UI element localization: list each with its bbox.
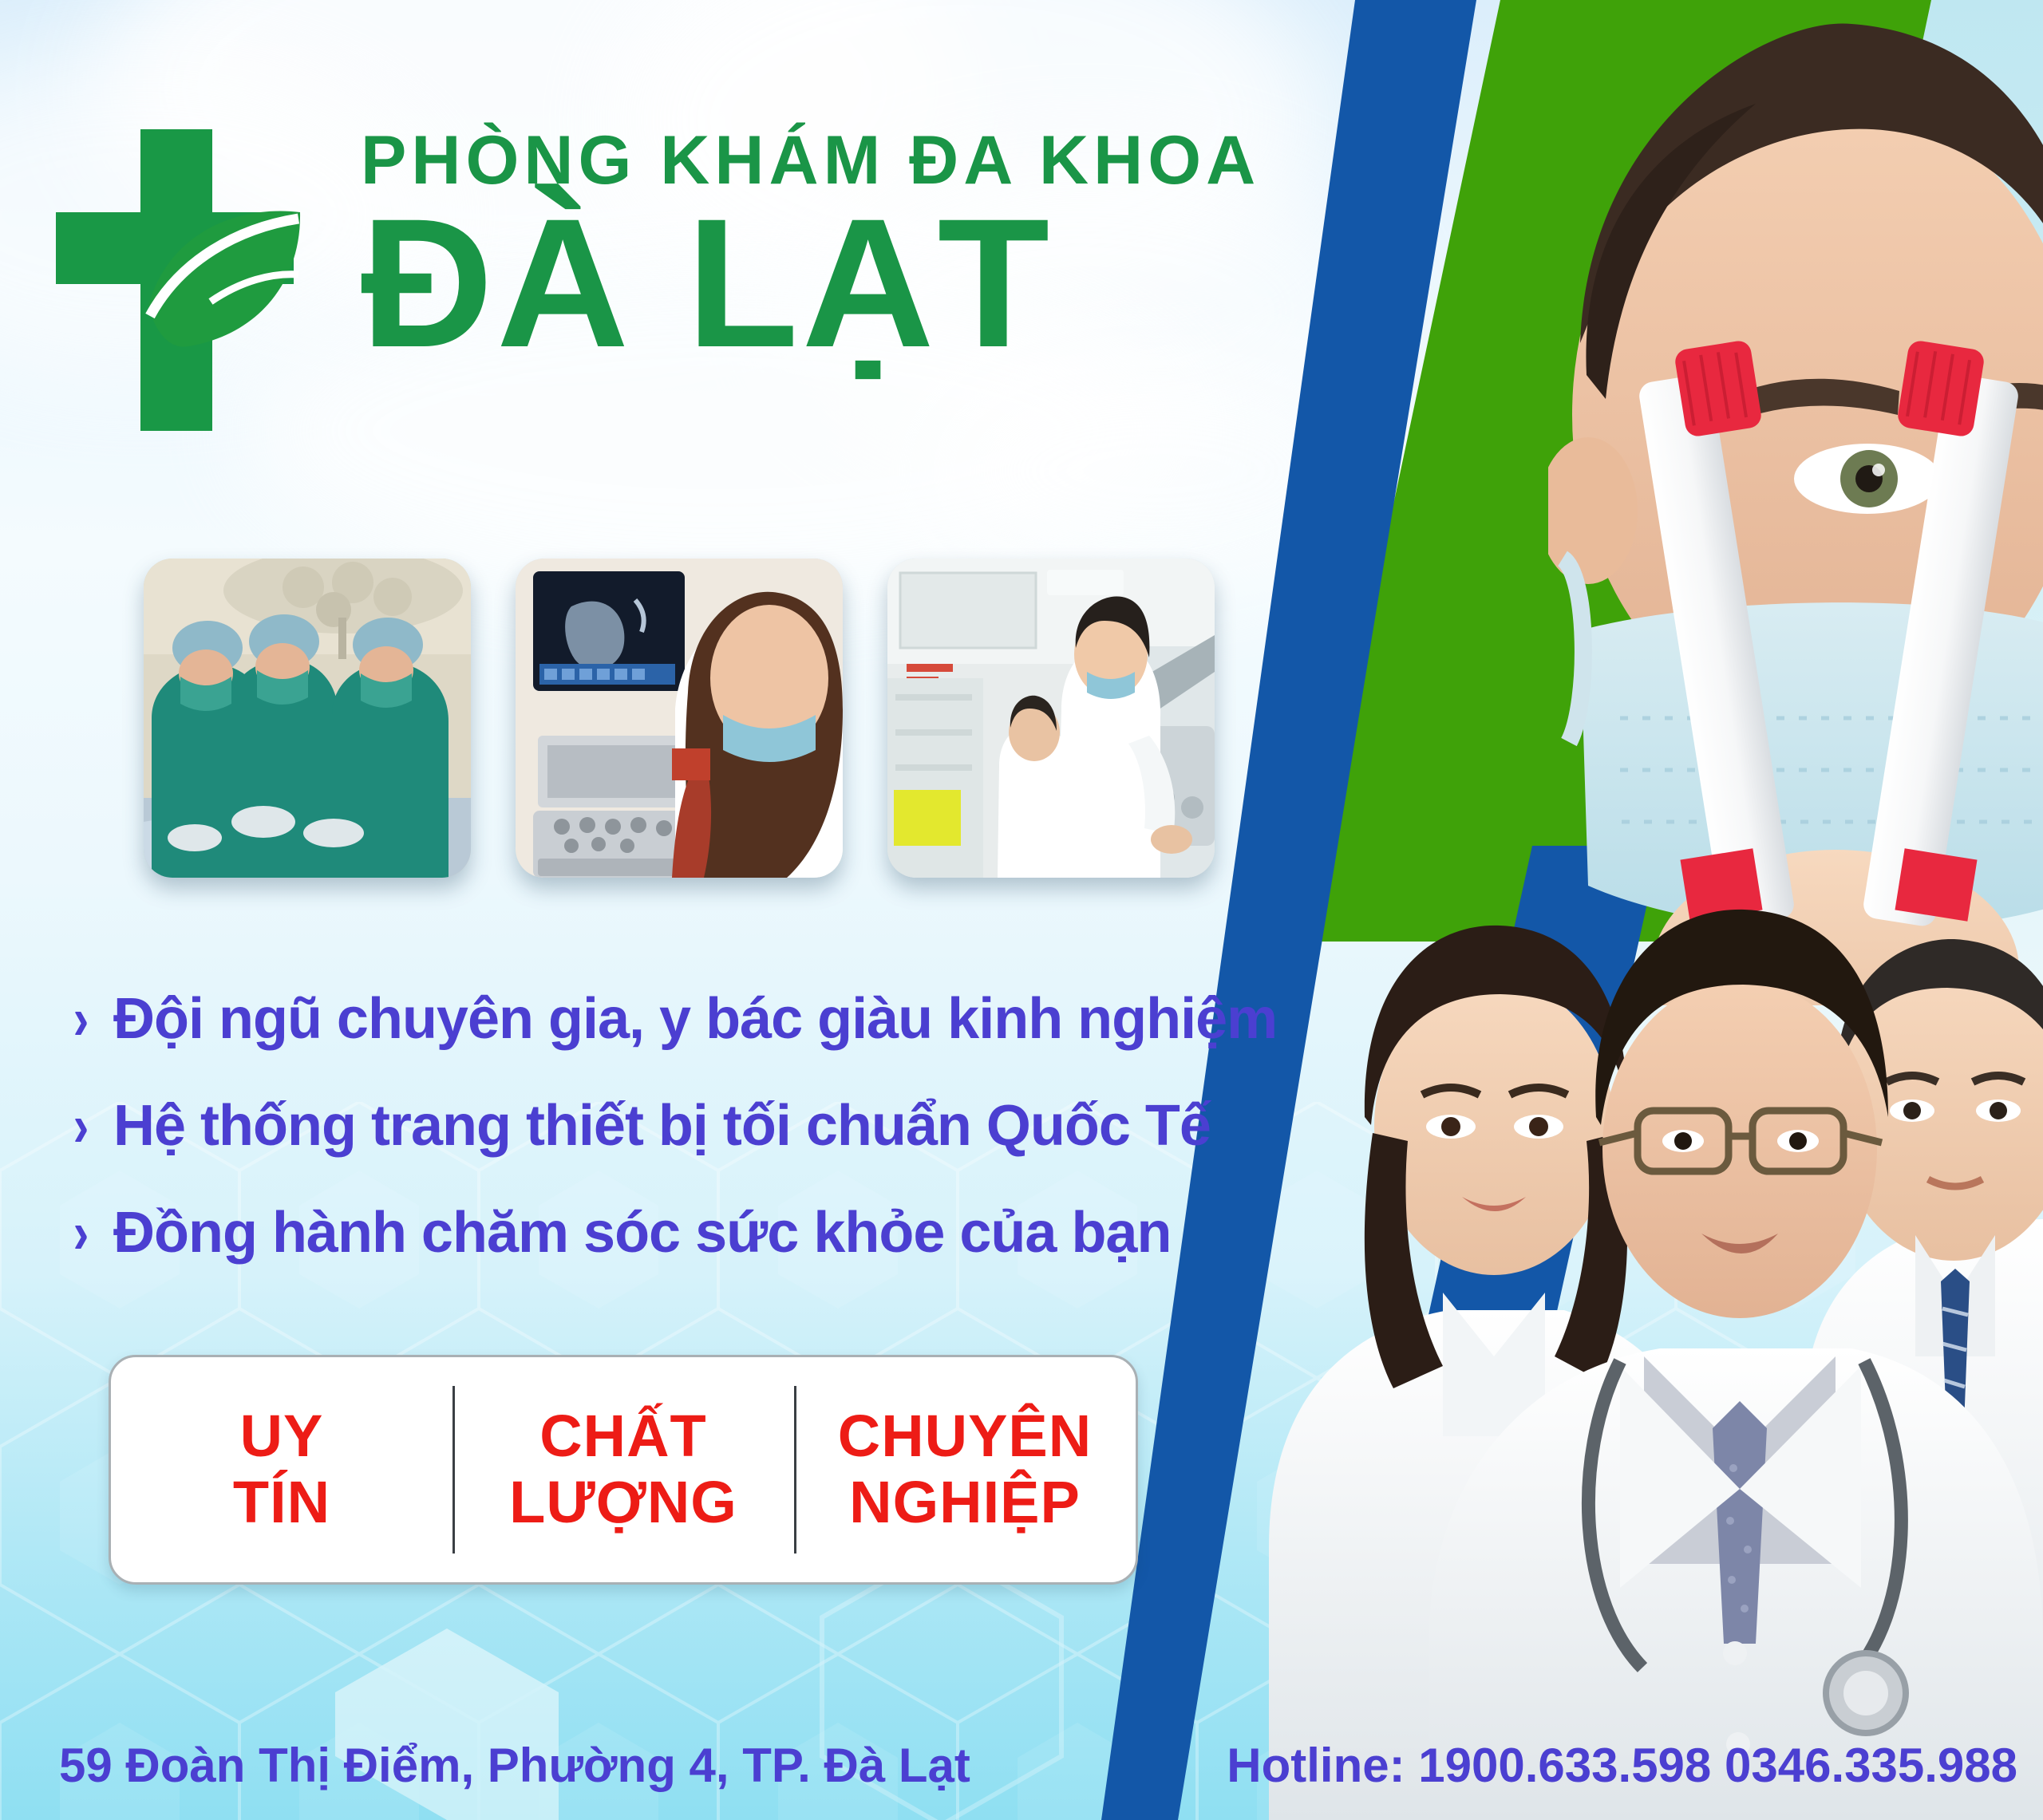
thumbnail-ultrasound[interactable]	[516, 559, 843, 878]
trust-badge-chuyen-nghiep: CHUYÊN NGHIỆP	[794, 1357, 1136, 1582]
trust-badge-line2: TÍN	[233, 1470, 330, 1536]
trust-badge-chat-luong: CHẤT LƯỢNG	[452, 1357, 794, 1582]
chevron-right-icon: ›	[73, 1096, 109, 1155]
bullet-item: › Hệ thống trang thiết bị tối chuẩn Quốc…	[69, 1093, 1473, 1159]
chevron-right-icon: ›	[73, 989, 109, 1048]
green-cross-leaf-logo	[46, 118, 302, 437]
thumbnail-laboratory[interactable]	[887, 559, 1215, 878]
trust-badge-line2: NGHIỆP	[849, 1470, 1081, 1536]
brand-title: ĐÀ LẠT	[361, 191, 1053, 375]
thumbnail-surgery[interactable]	[144, 559, 471, 878]
trust-badge-line1: CHUYÊN	[838, 1403, 1092, 1470]
people-imagery	[1245, 0, 2043, 1820]
trust-badges-box: UY TÍN CHẤT LƯỢNG CHUYÊN NGHIỆP	[109, 1355, 1138, 1585]
bullet-item: › Đội ngũ chuyên gia, y bác giàu kinh ng…	[69, 986, 1473, 1052]
trust-badge-line1: CHẤT	[539, 1403, 707, 1470]
bullet-text: Đồng hành chăm sóc sức khỏe của bạn	[113, 1200, 1171, 1265]
chevron-right-icon: ›	[73, 1203, 109, 1262]
feature-bullet-list: › Đội ngũ chuyên gia, y bác giàu kinh ng…	[69, 986, 1473, 1307]
bullet-item: › Đồng hành chăm sóc sức khỏe của bạn	[69, 1200, 1473, 1265]
clinic-hotline[interactable]: Hotline: 1900.633.598 0346.335.988	[1227, 1738, 2017, 1793]
trust-badge-uy-tin: UY TÍN	[111, 1357, 452, 1582]
clinic-address: 59 Đoàn Thị Điểm, Phường 4, TP. Đà Lạt	[59, 1738, 970, 1793]
bullet-text: Đội ngũ chuyên gia, y bác giàu kinh nghi…	[113, 986, 1277, 1052]
trust-badge-line1: UY	[240, 1403, 324, 1470]
trust-badge-line2: LƯỢNG	[509, 1470, 737, 1536]
clinic-advert-banner: PHÒNG KHÁM ĐA KHOA ĐÀ LẠT	[0, 0, 2043, 1820]
bullet-text: Hệ thống trang thiết bị tối chuẩn Quốc T…	[113, 1093, 1211, 1159]
photo-thumbnail-row	[144, 559, 1245, 894]
